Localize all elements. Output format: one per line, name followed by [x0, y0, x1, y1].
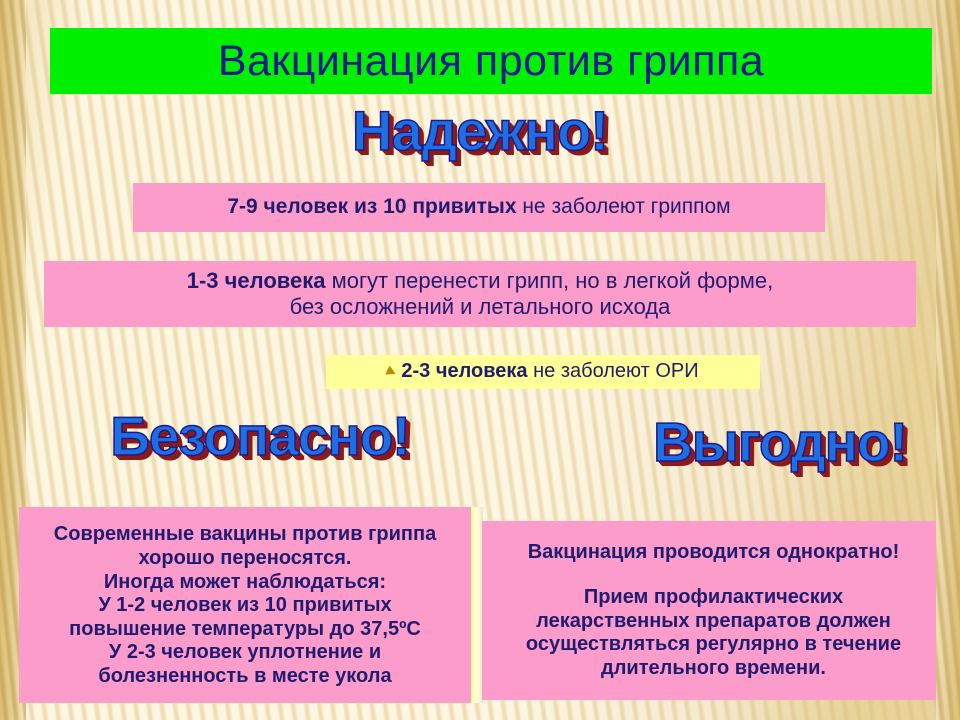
heading-safe: Безопасно!: [60, 404, 460, 468]
safety-details-line: У 1-2 человек из 10 привитых: [98, 594, 391, 618]
slide-canvas: Вакцинация против гриппа Надежно! 7-9 че…: [0, 0, 960, 720]
fact-box-ari: 2-3 человека не заболеют ОРИ: [326, 355, 760, 389]
fact-box-mild-course: 1-3 человека могут перенести грипп, но в…: [44, 261, 916, 327]
heading-reliable-text: Надежно!: [352, 99, 608, 162]
benefit-details-heading: Вакцинация проводится однократно!: [528, 541, 900, 565]
fact-box-mild-course-rest: могут перенести грипп, но в легкой форме…: [326, 268, 774, 293]
bullet-triangle-icon: [386, 366, 398, 379]
fact-box-ari-rest: не заболеют ОРИ: [528, 360, 699, 382]
fact-box-protection: 7-9 человек из 10 привитых не заболеют г…: [133, 183, 825, 232]
fact-box-protection-bold: 7-9 человек из 10 привитых: [227, 195, 516, 218]
page-title: Вакцинация против гриппа: [218, 40, 764, 83]
safety-details-line: болезненность в месте укола: [98, 665, 391, 689]
safety-details-line: У 2-3 человек уплотнение и: [109, 641, 381, 665]
safety-details-line: Современные вакцины против гриппа: [54, 523, 436, 547]
benefit-details-line: Прием профилактических: [584, 586, 843, 610]
benefit-details-line: длительного времени.: [601, 657, 826, 681]
safety-details-line: хорошо переносятся.: [139, 547, 352, 571]
fact-box-mild-course-line1: 1-3 человека могут перенести грипп, но в…: [187, 268, 773, 294]
fact-box-ari-bold: 2-3 человека: [401, 360, 527, 382]
benefit-details-line: лекарственных препаратов должен: [536, 610, 891, 634]
safety-details-line: повышение температуры до 37,5ºC: [69, 618, 421, 642]
title-banner: Вакцинация против гриппа: [50, 28, 932, 94]
heading-reliable: Надежно!: [0, 98, 960, 163]
heading-beneficial-text: Выгодно!: [653, 411, 907, 473]
fact-box-ari-line: 2-3 человека не заболеют ОРИ: [401, 360, 698, 384]
fact-box-protection-rest: не заболеют гриппом: [517, 195, 731, 218]
fact-box-mild-course-line2: без осложнений и летального исхода: [290, 294, 671, 320]
benefit-details-line: осуществляться регулярно в течение: [526, 633, 901, 657]
benefit-details-box: Вакцинация проводится однократно! Прием …: [482, 521, 945, 700]
heading-beneficial: Выгодно!: [630, 410, 930, 474]
safety-details-box: Современные вакцины против гриппа хорошо…: [19, 507, 471, 703]
heading-safe-text: Безопасно!: [110, 405, 409, 467]
fact-box-mild-course-bold: 1-3 человека: [187, 268, 326, 293]
fact-box-protection-line: 7-9 человек из 10 привитых не заболеют г…: [227, 195, 730, 220]
safety-details-line: Иногда может наблюдаться:: [104, 571, 386, 595]
